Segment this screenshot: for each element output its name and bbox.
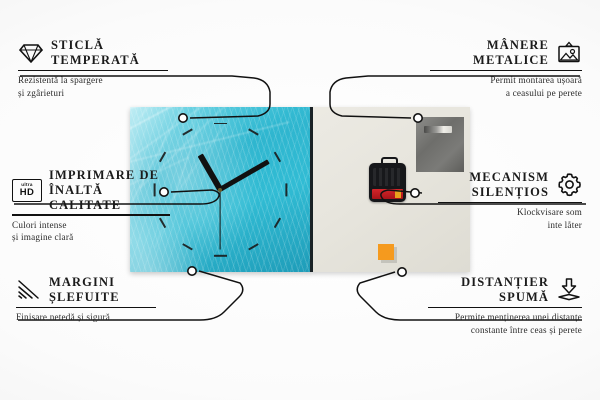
callout-sticla-temperata[interactable]: STICLĂ TEMPERATĂ Rezistentă la spargere … [18, 38, 168, 99]
callout-subtitle: Finisare netedă și sigură [16, 311, 156, 323]
callout-rule [430, 70, 582, 72]
callout-header: DISTANȚIER SPUMĂ [428, 275, 582, 305]
callout-rule [428, 307, 582, 309]
callout-title: MECANISM SILENȚIOS [469, 170, 549, 200]
callout-header: MARGINI ȘLEFUITE [16, 275, 156, 305]
callout-manere-metalice[interactable]: MÂNERE METALICE Permit montarea ușoară a… [430, 38, 582, 99]
hour-marker [159, 151, 166, 161]
foam-spacer [378, 244, 394, 260]
hour-marker [214, 255, 227, 257]
callout-title: MÂNERE METALICE [473, 38, 549, 68]
clock-hand [219, 189, 220, 249]
callout-imprimare-hd[interactable]: ultra HD IMPRIMARE DE ÎNALTĂ CALITATE Cu… [12, 168, 170, 244]
hanging-loop [381, 157, 398, 167]
clock-movement [369, 163, 406, 202]
callout-rule [16, 307, 156, 309]
product-infographic: STICLĂ TEMPERATĂ Rezistentă la spargere … [0, 0, 600, 400]
hanger-plate [416, 117, 464, 172]
hour-marker [248, 129, 258, 136]
callout-title: MARGINI ȘLEFUITE [49, 275, 120, 305]
callout-margini-slefuite[interactable]: MARGINI ȘLEFUITE Finisare netedă și sigu… [16, 275, 156, 324]
hour-marker [285, 183, 287, 196]
clock-hub [218, 188, 222, 192]
polished-edges-icon [16, 277, 42, 303]
hour-marker [248, 243, 258, 250]
callout-subtitle: Rezistentă la spargere și zgârieturi [18, 74, 168, 99]
callout-subtitle: Klockvisare som inte låter [438, 206, 582, 231]
callout-header: ultra HD IMPRIMARE DE ÎNALTĂ CALITATE [12, 168, 170, 212]
hour-marker [182, 129, 192, 136]
callout-mecanism-silentios[interactable]: MECANISM SILENȚIOS Klockvisare som inte … [438, 170, 582, 231]
hanger-slot [424, 126, 452, 133]
callout-distantier-spuma[interactable]: DISTANȚIER SPUMĂ Permite menținerea unei… [428, 275, 582, 336]
callout-title: IMPRIMARE DE ÎNALTĂ CALITATE [49, 168, 170, 212]
product-image [130, 107, 470, 272]
callout-title: STICLĂ TEMPERATĂ [51, 38, 140, 68]
hour-marker [214, 123, 227, 125]
callout-rule [438, 202, 582, 204]
callout-header: MECANISM SILENȚIOS [438, 170, 582, 200]
diamond-icon [18, 40, 44, 66]
callout-header: STICLĂ TEMPERATĂ [18, 38, 168, 68]
clock-hand [198, 153, 223, 190]
callout-rule [12, 214, 170, 216]
callout-title: DISTANȚIER SPUMĂ [461, 275, 549, 305]
ultra-hd-icon: ultra HD [12, 179, 42, 202]
callout-subtitle: Culori intense și imagine clară [12, 219, 170, 244]
gear-icon [556, 172, 582, 198]
hour-marker [274, 151, 281, 161]
picture-frame-hanger-icon [556, 40, 582, 66]
callout-header: MÂNERE METALICE [430, 38, 582, 68]
callout-subtitle: Permite menținerea unei distanțe constan… [428, 311, 582, 336]
clock-hand [219, 159, 270, 191]
gear-housing [373, 168, 402, 186]
callout-rule [18, 70, 168, 72]
hour-marker [274, 217, 281, 227]
hour-marker [182, 243, 192, 250]
down-arrow-pad-icon [556, 277, 582, 303]
battery [372, 189, 403, 199]
callout-subtitle: Permit montarea ușoară a ceasului pe per… [430, 74, 582, 99]
